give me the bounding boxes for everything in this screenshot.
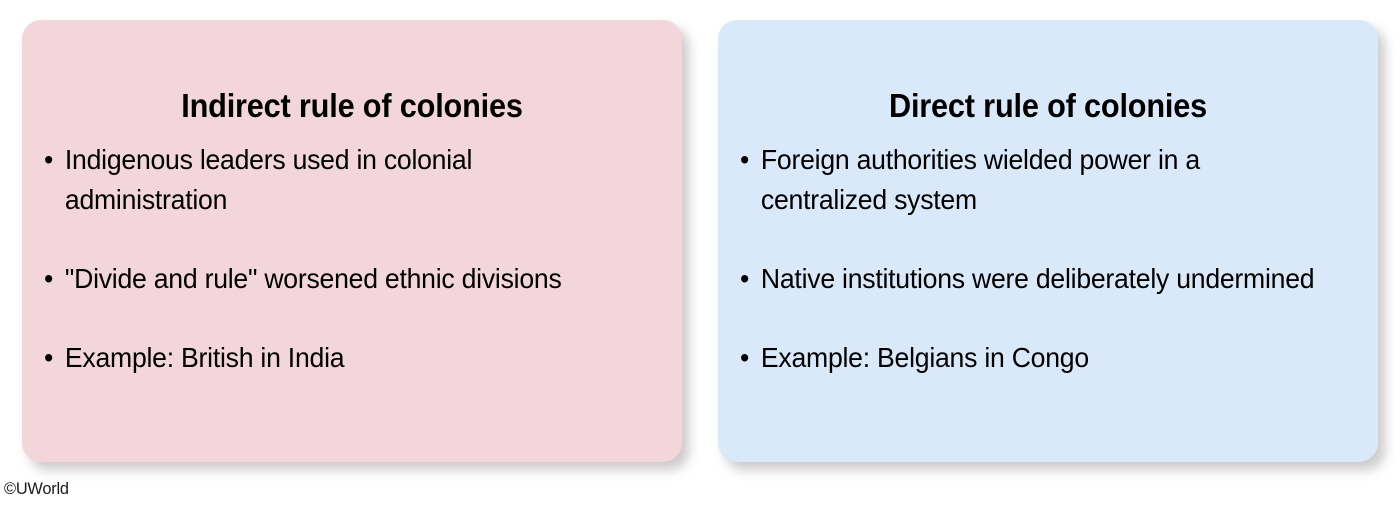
list-item-label: Indigenous leaders used in colonial admi… <box>65 140 629 220</box>
bullet-dot-icon: • <box>740 338 749 378</box>
list-item: • "Divide and rule" worsened ethnic divi… <box>44 259 629 299</box>
bullet-list-direct-rule: • Foreign authorities wielded power in a… <box>740 140 1356 378</box>
card-title-direct-rule: Direct rule of colonies <box>741 87 1355 125</box>
card-title-indirect-rule: Indirect rule of colonies <box>45 87 659 125</box>
list-item: • Indigenous leaders used in colonial ad… <box>44 140 629 220</box>
card-direct-rule: Direct rule of colonies • Foreign author… <box>718 20 1378 462</box>
list-item: • Example: British in India <box>44 338 629 378</box>
list-item-label: "Divide and rule" worsened ethnic divisi… <box>65 259 629 299</box>
bullet-dot-icon: • <box>740 140 749 180</box>
list-item: • Example: Belgians in Congo <box>740 338 1325 378</box>
bullet-dot-icon: • <box>44 338 53 378</box>
list-item: • Native institutions were deliberately … <box>740 259 1325 299</box>
bullet-dot-icon: • <box>740 259 749 299</box>
list-item-label: Example: Belgians in Congo <box>761 338 1325 378</box>
bullet-dot-icon: • <box>44 140 53 180</box>
card-indirect-rule: Indirect rule of colonies • Indigenous l… <box>22 20 682 462</box>
bullet-dot-icon: • <box>44 259 53 299</box>
list-item-label: Example: British in India <box>65 338 629 378</box>
list-item-label: Foreign authorities wielded power in a c… <box>761 140 1325 220</box>
list-item-label: Native institutions were deliberately un… <box>761 259 1325 299</box>
bullet-list-indirect-rule: • Indigenous leaders used in colonial ad… <box>44 140 660 378</box>
comparison-board: Indirect rule of colonies • Indigenous l… <box>0 0 1400 510</box>
copyright-notice: ©UWorld <box>4 479 69 499</box>
list-item: • Foreign authorities wielded power in a… <box>740 140 1325 220</box>
